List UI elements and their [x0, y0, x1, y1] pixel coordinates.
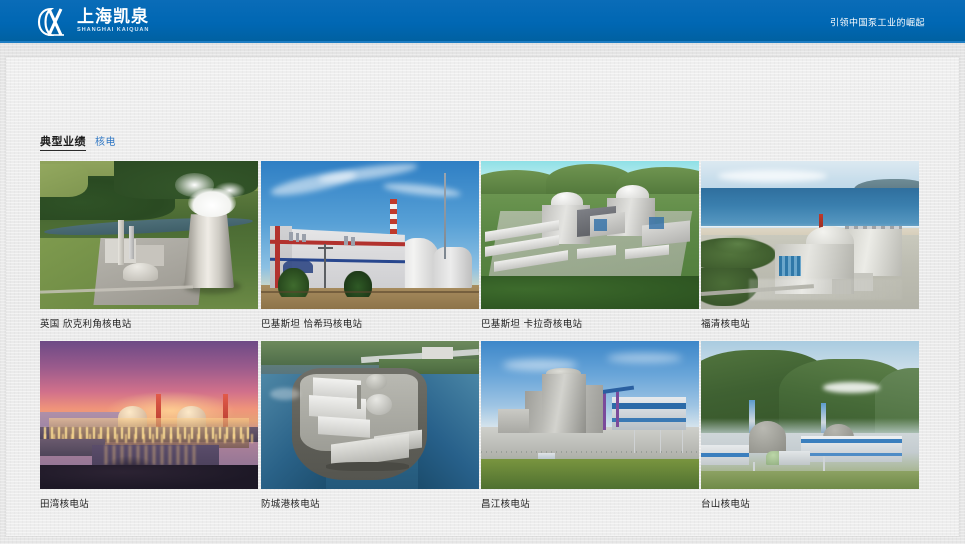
gallery-item[interactable]: 福清核电站: [701, 161, 921, 330]
gallery-item[interactable]: 巴基斯坦 卡拉奇核电站: [481, 161, 701, 330]
gallery-item[interactable]: 昌江核电站: [481, 341, 701, 510]
project-thumbnail[interactable]: [701, 161, 919, 309]
brand-name-en: SHANGHAI KAIQUAN: [77, 28, 150, 34]
brand-wordmark: 上海凯泉 SHANGHAI KAIQUAN: [77, 9, 149, 34]
project-thumbnail[interactable]: [261, 161, 479, 309]
site-header: 上海凯泉 SHANGHAI KAIQUAN 引领中国泵工业的崛起: [0, 0, 965, 43]
project-thumbnail[interactable]: [481, 341, 699, 489]
project-thumbnail[interactable]: [701, 341, 919, 489]
project-thumbnail[interactable]: [481, 161, 699, 309]
project-thumbnail[interactable]: [40, 341, 258, 489]
project-thumbnail[interactable]: [40, 161, 258, 309]
project-caption: 巴基斯坦 恰希玛核电站: [261, 316, 481, 330]
gallery-item[interactable]: 田湾核电站: [40, 341, 260, 510]
brand-name-cn: 上海凯泉: [77, 9, 149, 26]
content-sheet: 典型业绩 核电 英国 欣克利角核电站: [6, 57, 959, 536]
gallery-item[interactable]: 英国 欣克利角核电站: [40, 161, 260, 330]
section-tag-nuclear[interactable]: 核电: [95, 133, 116, 148]
header-slogan: 引领中国泵工业的崛起: [830, 15, 925, 28]
project-thumbnail[interactable]: [261, 341, 479, 489]
gallery-item[interactable]: 台山核电站: [701, 341, 921, 510]
section-heading: 典型业绩 核电: [40, 133, 116, 151]
gallery-item[interactable]: 防城港核电站: [261, 341, 481, 510]
project-caption: 昌江核电站: [481, 496, 701, 510]
project-caption: 台山核电站: [701, 496, 921, 510]
project-gallery-grid: 英国 欣克利角核电站: [40, 161, 938, 510]
gallery-item[interactable]: 巴基斯坦 恰希玛核电站: [261, 161, 481, 330]
project-caption: 田湾核电站: [40, 496, 260, 510]
project-caption: 防城港核电站: [261, 496, 481, 510]
project-caption: 英国 欣克利角核电站: [40, 316, 260, 330]
section-title: 典型业绩: [40, 133, 86, 151]
kaiquan-kx-emblem-icon: [36, 6, 72, 38]
project-caption: 福清核电站: [701, 316, 921, 330]
project-caption: 巴基斯坦 卡拉奇核电站: [481, 316, 701, 330]
page-background: 典型业绩 核电 英国 欣克利角核电站: [0, 43, 965, 544]
brand-logo[interactable]: 上海凯泉 SHANGHAI KAIQUAN: [36, 6, 149, 38]
